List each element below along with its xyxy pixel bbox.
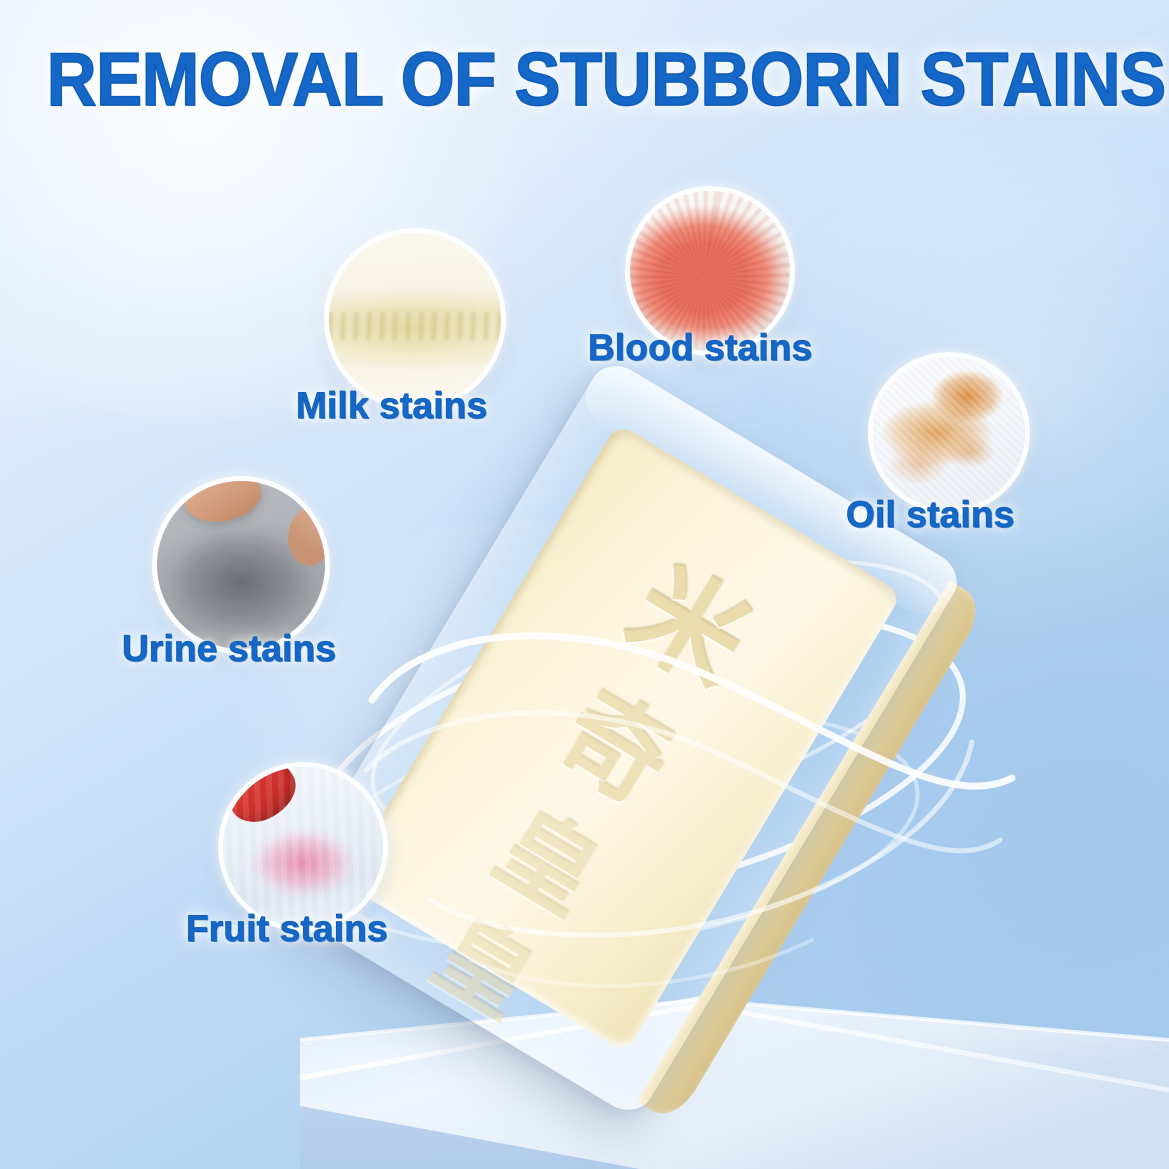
page-title: REMOVAL OF STUBBORN STAINS [47,42,1122,117]
oil-stain-texture [873,357,1025,509]
fruit-stain-photo [218,762,388,932]
oil-stain-label: Oil stains [846,494,1015,536]
milk-stain-texture [329,233,501,405]
oil-stain-photo [868,352,1030,514]
milk-stain-label: Milk stains [296,385,487,427]
fruit-stain-label: Fruit stains [186,908,388,950]
product-poster: 米 奇 皇 皇 Milk stains Blood stains Oil sta… [0,0,1169,1169]
milk-stain-photo [324,228,506,410]
urine-stain-label: Urine stains [122,628,336,670]
fruit-stain-texture [223,767,383,927]
blood-stain-label: Blood stains [588,327,812,369]
urine-stain-texture [157,481,325,649]
